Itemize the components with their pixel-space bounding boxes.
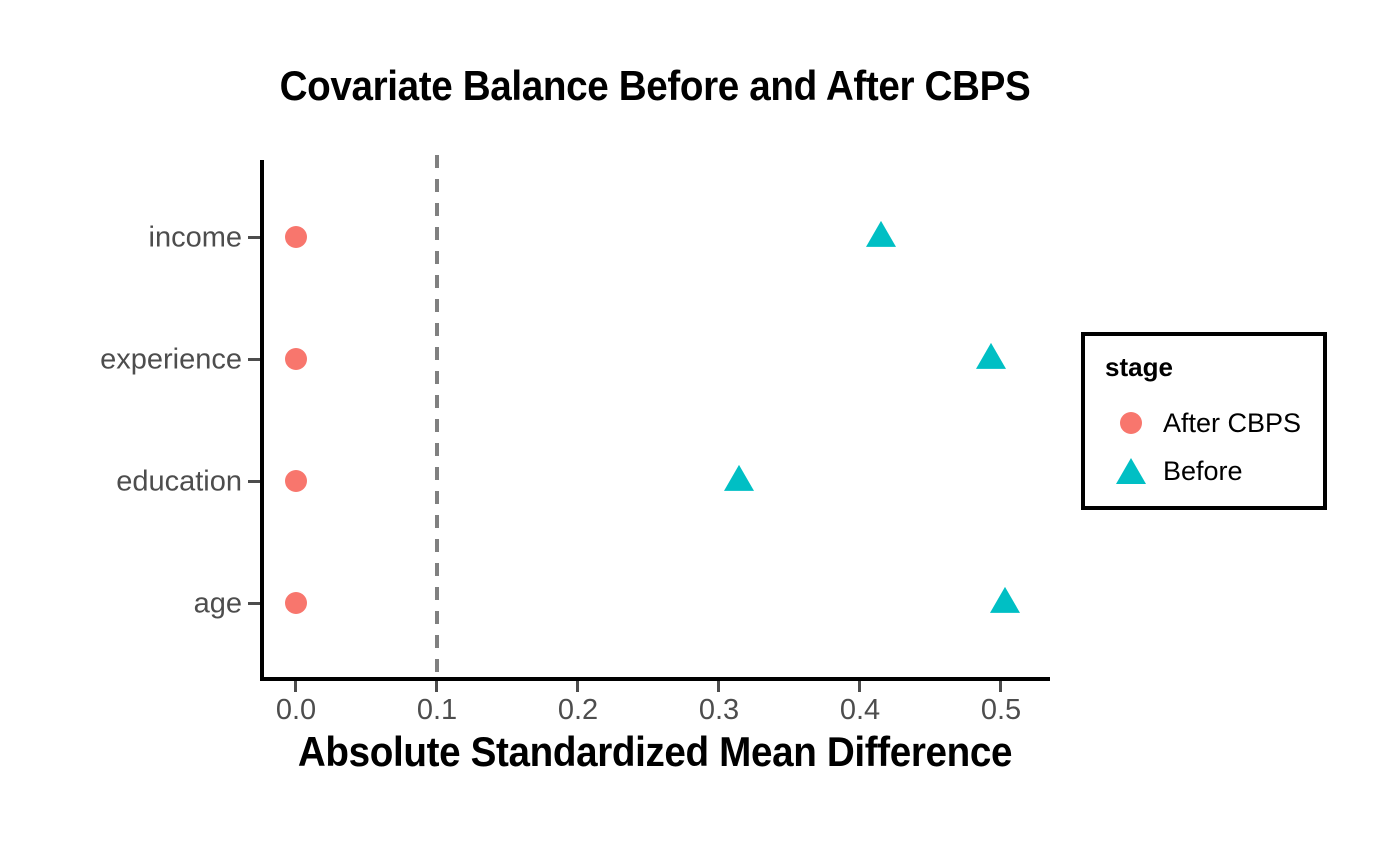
legend-entry-before[interactable]: Before [1105,448,1243,494]
y-tick-label-age: age [194,588,242,621]
chart-canvas: Covariate Balance Before and After CBPS … [0,0,1400,865]
x-tick-label-2: 0.2 [533,694,623,727]
legend-label-before: Before [1163,456,1243,487]
legend-title: stage [1105,352,1173,383]
x-axis-title: Absolute Standardized Mean Difference [52,728,1257,776]
data-point-before-education [724,465,754,491]
x-tick-label-5: 0.5 [956,694,1046,727]
y-tick-label-education: education [116,466,242,499]
legend-label-after-cbps: After CBPS [1163,408,1301,439]
data-point-before-experience [976,343,1006,369]
data-point-after-income [285,226,307,248]
chart-title: Covariate Balance Before and After CBPS [52,62,1257,110]
y-tick-mark-experience [248,358,260,361]
x-axis-line [260,677,1050,681]
data-point-after-age [285,592,307,614]
y-axis-line [260,160,264,681]
data-point-after-experience [285,348,307,370]
data-point-after-education [285,470,307,492]
y-tick-label-experience: experience [100,344,242,377]
x-tick-label-3: 0.3 [674,694,764,727]
x-tick-mark-3 [717,681,720,692]
x-tick-mark-2 [576,681,579,692]
data-point-before-age [990,587,1020,613]
y-tick-mark-age [248,602,260,605]
x-tick-label-0: 0.0 [251,694,341,727]
data-point-before-income [866,221,896,247]
y-tick-label-income: income [149,222,243,255]
x-tick-mark-1 [435,681,438,692]
legend-key-circle-icon [1105,412,1157,434]
y-tick-mark-income [248,236,260,239]
x-tick-mark-0 [294,681,297,692]
legend-key-triangle-icon [1105,458,1157,484]
x-tick-label-1: 0.1 [392,694,482,727]
legend-entry-after-cbps[interactable]: After CBPS [1105,400,1301,446]
reference-line-0.1 [435,155,439,683]
x-tick-label-4: 0.4 [815,694,905,727]
x-tick-mark-4 [858,681,861,692]
y-tick-mark-education [248,480,260,483]
x-tick-mark-5 [999,681,1002,692]
